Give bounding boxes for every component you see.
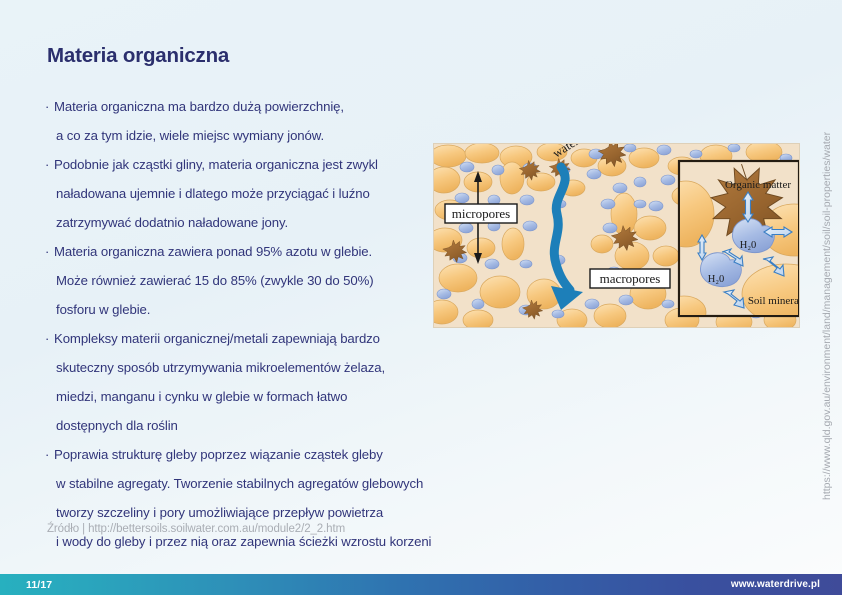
page-number: 11/17 bbox=[0, 579, 52, 591]
bullet-marker-icon: · bbox=[45, 92, 54, 121]
page-title: Materia organiczna bbox=[47, 44, 229, 68]
soil-pores-diagram: micropores water macropores bbox=[433, 143, 800, 328]
bullet-line-primary: ·Kompleksy materii organicznej/metali za… bbox=[45, 324, 465, 353]
bullet-text: skuteczny sposób utrzymywania mikroeleme… bbox=[56, 360, 385, 375]
bullet-line-continued: dostępnych dla roślin bbox=[45, 411, 465, 440]
label-micropores: micropores bbox=[445, 204, 517, 223]
bullet-line-primary: ·Poprawia strukturę gleby poprzez wiązan… bbox=[45, 440, 465, 469]
bullet-text: zatrzymywać dodatnio naładowane jony. bbox=[56, 215, 288, 230]
bullet-line-primary: ·Materia organiczna zawiera ponad 95% az… bbox=[45, 237, 465, 266]
svg-text:H₂0: H₂0 bbox=[740, 240, 757, 251]
bullet-line-primary: ·Podobnie jak cząstki gliny, materia org… bbox=[45, 150, 465, 179]
svg-text:Organic matter: Organic matter bbox=[725, 179, 791, 191]
svg-text:H₂0: H₂0 bbox=[708, 274, 725, 285]
bullet-marker-icon: · bbox=[45, 440, 54, 469]
footer-bar: 11/17 www.waterdrive.pl bbox=[0, 574, 842, 595]
bullet-text: Podobnie jak cząstki gliny, materia orga… bbox=[54, 157, 378, 172]
source-note: Źródło | http://bettersoils.soilwater.co… bbox=[47, 523, 345, 535]
svg-text:macropores: macropores bbox=[600, 271, 661, 286]
bullet-item: ·Materia organiczna ma bardzo dużą powie… bbox=[45, 92, 465, 150]
bullet-line-continued: Może również zawierać 15 do 85% (zwykle … bbox=[45, 266, 465, 295]
bullet-item: ·Materia organiczna zawiera ponad 95% az… bbox=[45, 237, 465, 324]
bullet-text: tworzy szczeliny i pory umożliwiające pr… bbox=[56, 505, 383, 520]
bullet-text: Materia organiczna zawiera ponad 95% azo… bbox=[54, 244, 372, 259]
bullet-text: dostępnych dla roślin bbox=[56, 418, 178, 433]
bullet-marker-icon: · bbox=[45, 324, 54, 353]
bullet-text: i wody do gleby i przez nią oraz zapewni… bbox=[56, 534, 431, 549]
bullet-line-primary: ·Materia organiczna ma bardzo dużą powie… bbox=[45, 92, 465, 121]
label-macropores: macropores bbox=[590, 269, 670, 288]
svg-text:Soil minerals: Soil minerals bbox=[748, 295, 799, 307]
bullet-line-continued: zatrzymywać dodatnio naładowane jony. bbox=[45, 208, 465, 237]
bullet-line-continued: w stabilne agregaty. Tworzenie stabilnyc… bbox=[45, 469, 465, 498]
inset-detail: Organic matter H₂0 H₂0 Soil minerals bbox=[658, 161, 799, 327]
bullet-text: Materia organiczna ma bardzo dużą powier… bbox=[54, 99, 344, 114]
bullet-marker-icon: · bbox=[45, 150, 54, 179]
vertical-credit-url: https://www.qld.gov.au/environment/land/… bbox=[821, 60, 833, 500]
bullet-line-continued: fosforu w glebie. bbox=[45, 295, 465, 324]
bullet-line-continued: skuteczny sposób utrzymywania mikroeleme… bbox=[45, 353, 465, 382]
bullet-item: ·Podobnie jak cząstki gliny, materia org… bbox=[45, 150, 465, 237]
bullet-text: Poprawia strukturę gleby poprzez wiązani… bbox=[54, 447, 383, 462]
bullet-text: fosforu w glebie. bbox=[56, 302, 150, 317]
bullet-text: miedzi, manganu i cynku w glebie w forma… bbox=[56, 389, 347, 404]
bullet-line-continued: a co za tym idzie, wiele miejsc wymiany … bbox=[45, 121, 465, 150]
bullet-text: naładowana ujemnie i dlatego może przyci… bbox=[56, 186, 370, 201]
footer-website: www.waterdrive.pl bbox=[731, 579, 842, 590]
bullet-line-continued: miedzi, manganu i cynku w glebie w forma… bbox=[45, 382, 465, 411]
bullet-text: Kompleksy materii organicznej/metali zap… bbox=[54, 331, 380, 346]
bullet-text: Może również zawierać 15 do 85% (zwykle … bbox=[56, 273, 374, 288]
bullet-text: w stabilne agregaty. Tworzenie stabilnyc… bbox=[56, 476, 423, 491]
slide: Materia organiczna ·Materia organiczna m… bbox=[0, 0, 842, 595]
bullet-item: ·Poprawia strukturę gleby poprzez wiązan… bbox=[45, 440, 465, 556]
svg-text:micropores: micropores bbox=[452, 206, 510, 221]
bullet-line-continued: naładowana ujemnie i dlatego może przyci… bbox=[45, 179, 465, 208]
bullet-item: ·Kompleksy materii organicznej/metali za… bbox=[45, 324, 465, 440]
bullet-list: ·Materia organiczna ma bardzo dużą powie… bbox=[45, 92, 465, 556]
bullet-text: a co za tym idzie, wiele miejsc wymiany … bbox=[56, 128, 324, 143]
bullet-marker-icon: · bbox=[45, 237, 54, 266]
